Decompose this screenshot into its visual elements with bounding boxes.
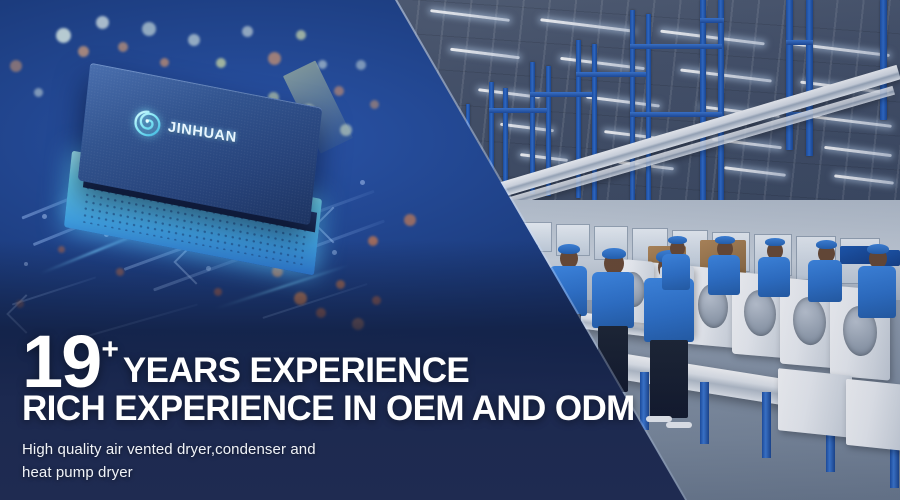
branded-microchip: JINHUAN bbox=[62, 78, 362, 268]
headline-copy-block: 19 + YEARS EXPERIENCE RICH EXPERIENCE IN… bbox=[22, 331, 622, 484]
years-plus-sign: + bbox=[101, 335, 119, 365]
subtitle-text: High quality air vented dryer,condenser … bbox=[22, 439, 362, 484]
headline-line-one: 19 + YEARS EXPERIENCE bbox=[22, 331, 622, 393]
subtitle-line-one: High quality air vented dryer,condenser … bbox=[22, 441, 316, 458]
years-experience-label: YEARS EXPERIENCE bbox=[123, 351, 469, 393]
years-number: 19 bbox=[22, 331, 100, 393]
subtitle-line-two: heat pump dryer bbox=[22, 464, 133, 481]
headline-line-two: RICH EXPERIENCE IN OEM AND ODM bbox=[22, 389, 622, 429]
promo-banner: JINHUAN 19 + YEARS EXPERIENCE RICH EXPER… bbox=[0, 0, 900, 500]
spiral-swirl-icon bbox=[133, 108, 162, 139]
brand-logo-text: JINHUAN bbox=[167, 119, 237, 146]
